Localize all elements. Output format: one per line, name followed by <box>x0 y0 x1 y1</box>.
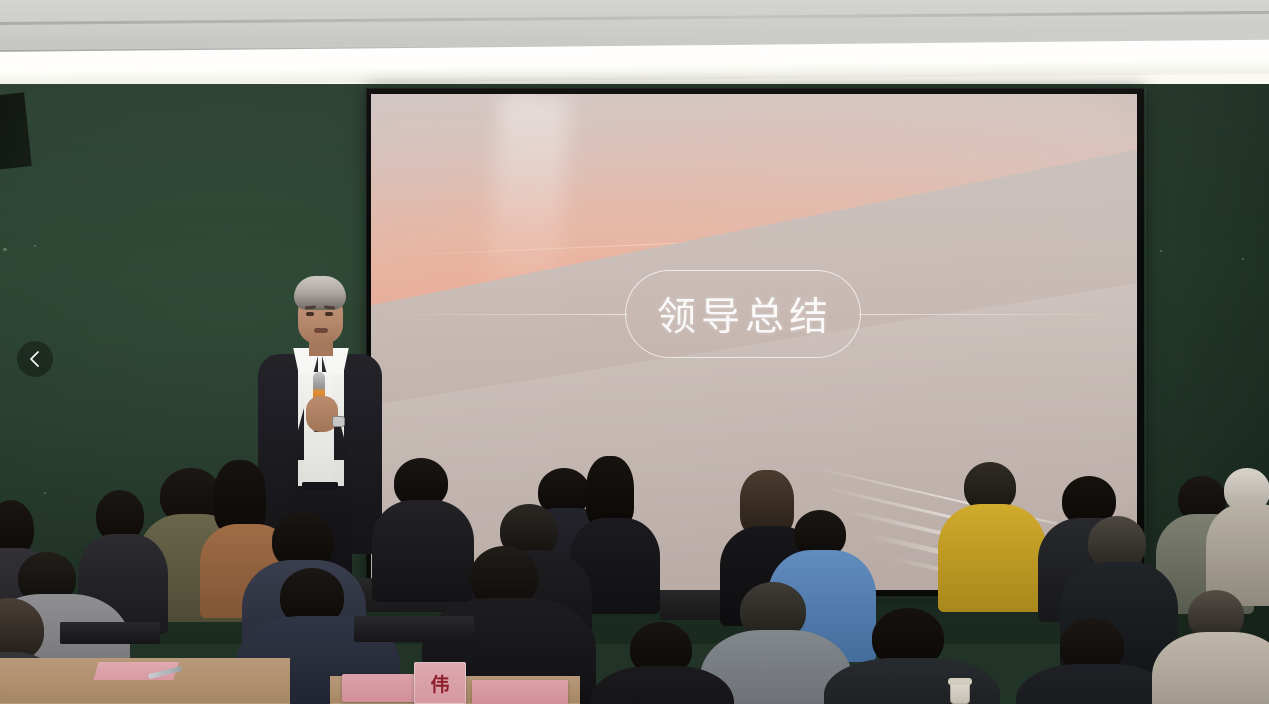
speaker-eye <box>325 312 333 316</box>
slide-hairline <box>371 232 931 256</box>
speaker-mouth <box>314 328 328 333</box>
audience: 伟 <box>0 440 1269 704</box>
previous-image-button[interactable] <box>17 341 53 377</box>
wall-speck <box>1160 250 1162 252</box>
speaker-hair <box>294 276 346 310</box>
speaker-wristwatch <box>332 416 345 427</box>
placard <box>472 680 568 704</box>
cup-lid <box>948 678 972 685</box>
slide-connector-line-left <box>383 314 627 315</box>
slide-title-text: 领导总结 <box>653 286 833 342</box>
chevron-left-icon <box>28 350 42 368</box>
wall-speck <box>1242 258 1244 260</box>
laptop <box>354 616 474 642</box>
ceiling-seam <box>0 11 1269 25</box>
photo-viewer-stage: 领导总结 <box>0 0 1269 704</box>
slide-light-smear <box>482 94 571 366</box>
laptop <box>60 622 160 644</box>
name-placard: 伟 <box>414 662 466 704</box>
wall-speck <box>34 245 36 247</box>
speaker-eye <box>306 312 314 316</box>
name-placard-text: 伟 <box>430 670 449 697</box>
slide-top-band <box>371 94 1137 277</box>
wall-speck <box>3 248 7 251</box>
slide-title-pill: 领导总结 <box>625 270 861 358</box>
slide-connector-line-right <box>859 314 1137 315</box>
cup <box>950 682 970 704</box>
